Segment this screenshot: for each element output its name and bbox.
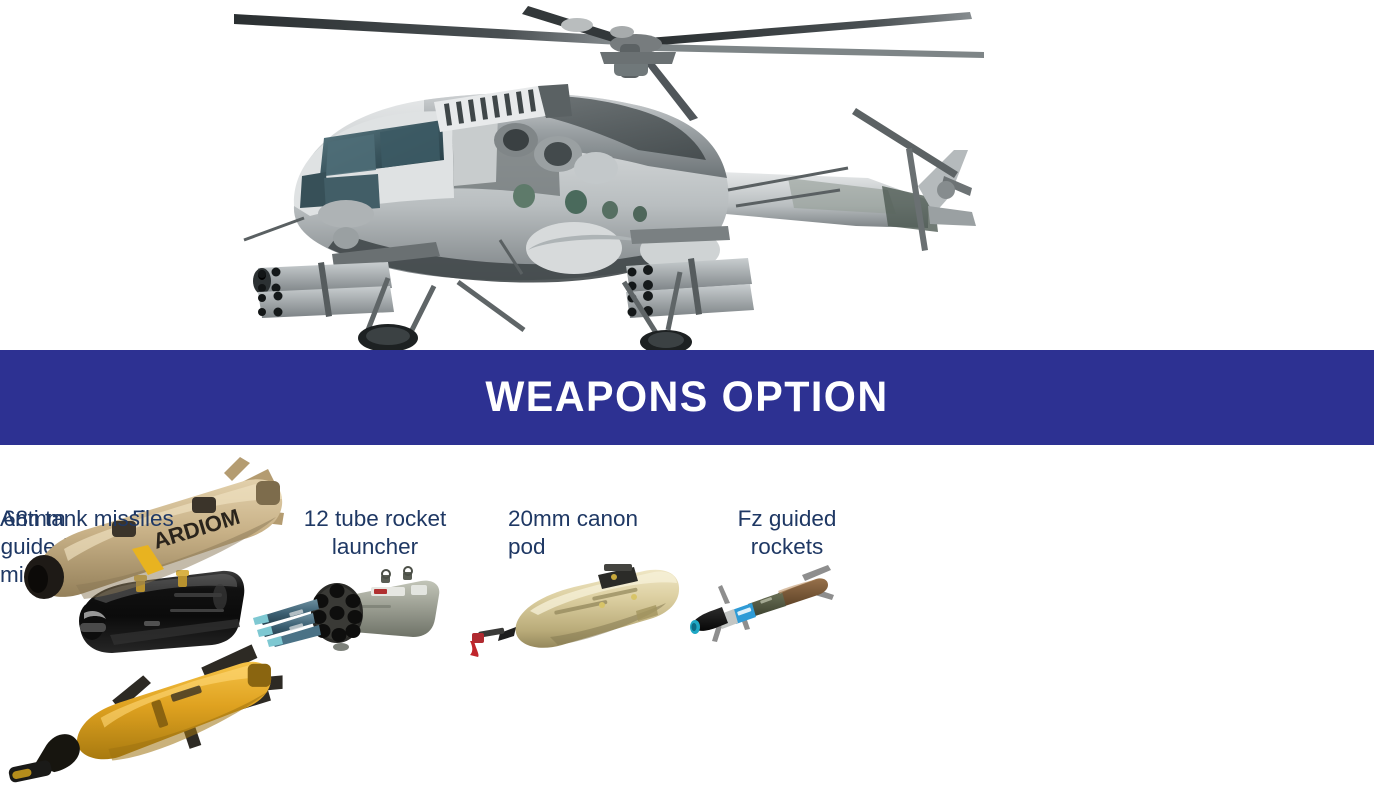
weapons-option-banner: WEAPONS OPTION <box>0 350 1374 445</box>
cannon-barrel <box>470 627 516 657</box>
helicopter-photo <box>228 0 988 352</box>
anti-tank-missile-gold-icon <box>0 625 300 809</box>
anti-tank-missile-sand-icon: ARDIOM <box>0 445 300 625</box>
left-rocket-pods <box>253 262 394 318</box>
twenty-mm-cannon-pod-icon <box>458 553 683 658</box>
weapon-label-12-tube-rocket-launcher: 12 tube rocket launcher <box>280 505 470 561</box>
weapon-item-anti-tank-missiles: Anti tank missiles <box>0 445 300 809</box>
page-title: WEAPONS OPTION <box>485 376 888 419</box>
weapon-label-anti-tank-missiles: Anti tank missiles <box>0 505 174 533</box>
hero-image-area <box>0 0 1384 350</box>
right-rocket-pods <box>626 258 754 318</box>
nose-sensor <box>333 227 359 249</box>
fz-guided-rocket-icon <box>682 557 842 652</box>
weapons-gallery: FN RMP <box>0 445 1384 779</box>
weapon-item-fz-guided-rockets: Fz guided rockets <box>712 445 882 655</box>
weapon-label-fz-guided-rockets: Fz guided rockets <box>707 505 867 561</box>
weapon-item-12-tube-rocket-launcher: 12 tube rocket launcher <box>280 445 480 655</box>
